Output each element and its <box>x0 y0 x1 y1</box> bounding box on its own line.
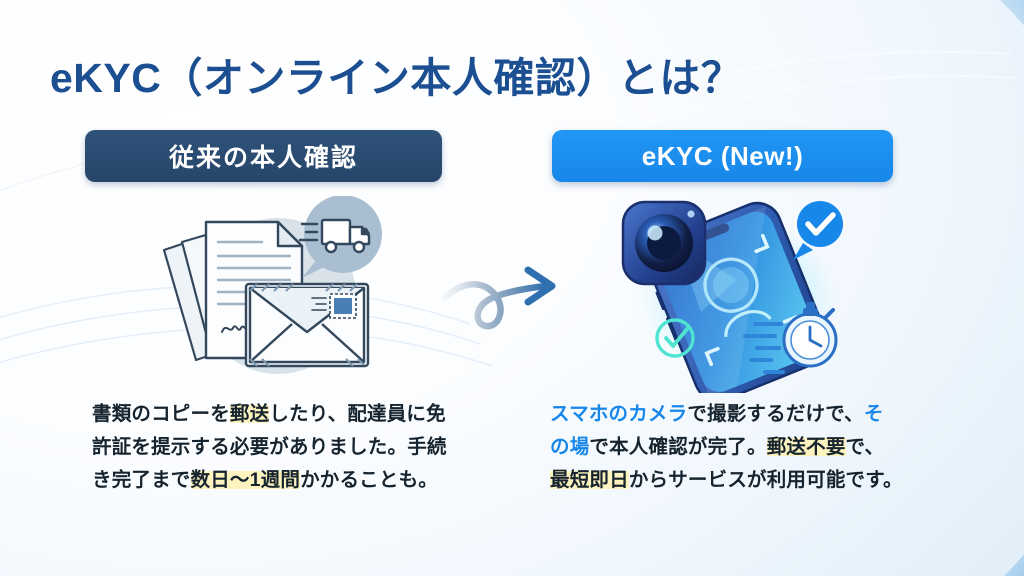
caption-line: 許証を提示する必要がありました。手続 <box>92 431 462 464</box>
camera-lens-icon <box>623 202 705 284</box>
caption-text: 許証を提示する必要がありました。手続 <box>92 436 447 458</box>
caption-ekyc: スマホのカメラで撮影するだけで、その場で本人確認が完了。郵送不要で、最短即日から… <box>550 398 928 497</box>
caption-text: かかることも。 <box>300 469 438 491</box>
accent-text: スマホのカメラ <box>550 403 687 425</box>
accent-text: そ <box>864 403 884 425</box>
delivery-truck-bubble-icon <box>300 196 382 278</box>
caption-text: で本人確認が完了。 <box>589 436 766 458</box>
caption-text: 書類のコピーを <box>92 403 230 425</box>
caption-text: き完了まで <box>92 469 191 491</box>
highlighted-text: 郵送 <box>230 403 269 425</box>
caption-traditional: 書類のコピーを郵送したり、配達員に免許証を提示する必要がありました。手続き完了ま… <box>92 398 462 497</box>
caption-text: からサービスが利用可能です。 <box>629 469 903 491</box>
documents-envelope-truck-illustration <box>150 196 400 391</box>
badge-ekyc-new: eKYC (New!) <box>552 130 893 182</box>
badge-traditional-label: 従来の本人確認 <box>169 138 358 174</box>
caption-line: き完了まで数日〜1週間かかることも。 <box>92 464 462 497</box>
highlighted-text: 郵送不要 <box>767 436 846 458</box>
caption-text: で撮影するだけで、 <box>687 403 864 425</box>
caption-line: 書類のコピーを郵送したり、配達員に免 <box>92 398 462 431</box>
highlighted-text: 最短即日 <box>550 469 629 491</box>
caption-line: スマホのカメラで撮影するだけで、そ <box>550 398 928 431</box>
smartphone-face-scan-illustration <box>605 188 870 393</box>
curved-arrow-right-icon <box>440 258 580 342</box>
accent-text: の場 <box>550 436 589 458</box>
caption-line: 最短即日からサービスが利用可能です。 <box>550 464 928 497</box>
slide-canvas: eKYC（オンライン本人確認）とは？ 従来の本人確認 eKYC (New!) <box>0 0 1024 576</box>
badge-traditional-kyc: 従来の本人確認 <box>85 130 442 182</box>
caption-line: の場で本人確認が完了。郵送不要で、 <box>550 431 928 464</box>
verified-check-bubble-icon <box>793 201 843 260</box>
highlighted-text: 数日〜1週間 <box>191 469 301 491</box>
page-title: eKYC（オンライン本人確認）とは？ <box>50 44 742 104</box>
badge-ekyc-label: eKYC (New!) <box>642 141 804 172</box>
caption-text: で、 <box>846 436 885 458</box>
caption-text: したり、配達員に免 <box>269 403 446 425</box>
